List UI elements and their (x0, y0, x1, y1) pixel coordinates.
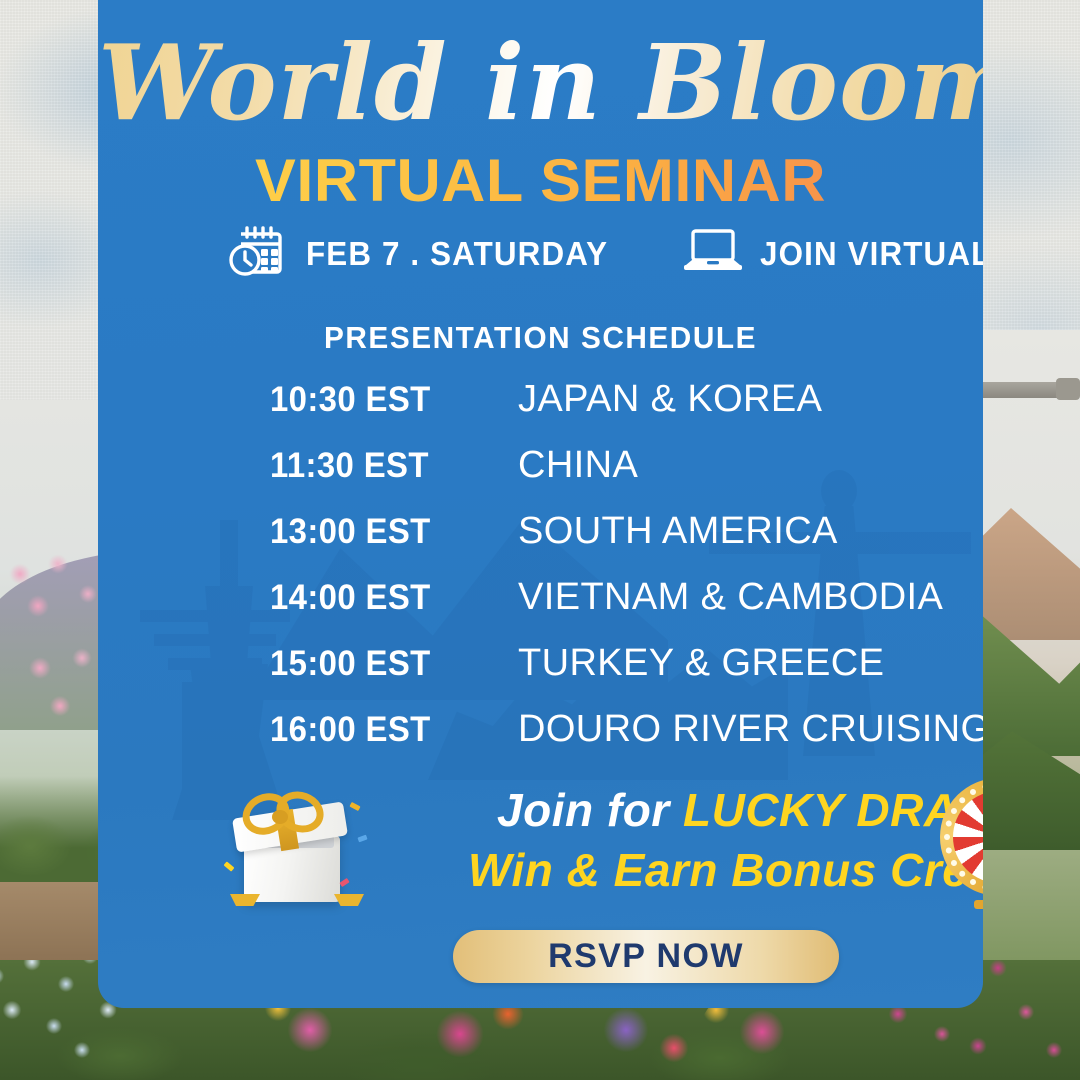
schedule-destination: VIETNAM & CAMBODIA (518, 576, 943, 619)
promo-text-block: Join for LUCKY DRAW Win & Earn Bonus Cre… (468, 780, 983, 900)
meta-item-format: JOIN VIRTUALLY (682, 225, 983, 282)
meta-item-date: FEB 7 . SATURDAY (228, 222, 624, 285)
schedule-time: 16:00 EST (270, 710, 503, 750)
schedule-row: 13:00 EST SOUTH AMERICA (270, 510, 983, 576)
schedule-row: 10:30 EST JAPAN & KOREA (270, 378, 983, 444)
rsvp-button-label: RSVP NOW (548, 937, 744, 976)
schedule-time: 15:00 EST (270, 644, 503, 684)
gift-box-icon (220, 788, 370, 908)
schedule-heading: PRESENTATION SCHEDULE (116, 320, 966, 356)
schedule-destination: DOURO RIVER CRUISING (518, 708, 983, 751)
page-subtitle: VIRTUAL SEMINAR (98, 146, 983, 215)
main-blue-panel: World in Bloom VIRTUAL SEMINAR (98, 0, 983, 1008)
event-format-text: JOIN VIRTUALLY (760, 235, 983, 273)
schedule-time: 11:30 EST (270, 446, 503, 486)
schedule-row: 16:00 EST DOURO RIVER CRUISING (270, 708, 983, 774)
schedule-row: 14:00 EST VIETNAM & CAMBODIA (270, 576, 983, 642)
schedule-list: 10:30 EST JAPAN & KOREA 11:30 EST CHINA … (270, 378, 983, 774)
schedule-row: 15:00 EST TURKEY & GREECE (270, 642, 983, 708)
prize-wheel-icon (934, 778, 983, 908)
schedule-destination: TURKEY & GREECE (518, 642, 884, 685)
schedule-row: 11:30 EST CHINA (270, 444, 983, 510)
event-meta-row: FEB 7 . SATURDAY JOIN VIRTUALLY (228, 222, 983, 285)
page-title: World in Bloom (98, 28, 983, 137)
rsvp-now-button[interactable]: RSVP NOW (453, 930, 839, 983)
schedule-time: 14:00 EST (270, 578, 503, 618)
schedule-time: 13:00 EST (270, 512, 503, 552)
promo-line1-plain: Join for (497, 784, 683, 836)
schedule-time: 10:30 EST (270, 380, 503, 420)
schedule-destination: JAPAN & KOREA (518, 378, 822, 421)
schedule-destination: CHINA (518, 444, 638, 487)
schedule-destination: SOUTH AMERICA (518, 510, 838, 553)
event-date-text: FEB 7 . SATURDAY (306, 235, 608, 273)
promo-line2: Win & Earn Bonus Credit! (468, 840, 983, 900)
seminar-poster: World in Bloom VIRTUAL SEMINAR (0, 0, 1080, 1080)
laptop-icon (682, 225, 744, 282)
calendar-clock-icon (228, 222, 290, 285)
lucky-draw-promo: Join for LUCKY DRAW Win & Earn Bonus Cre… (216, 782, 983, 908)
